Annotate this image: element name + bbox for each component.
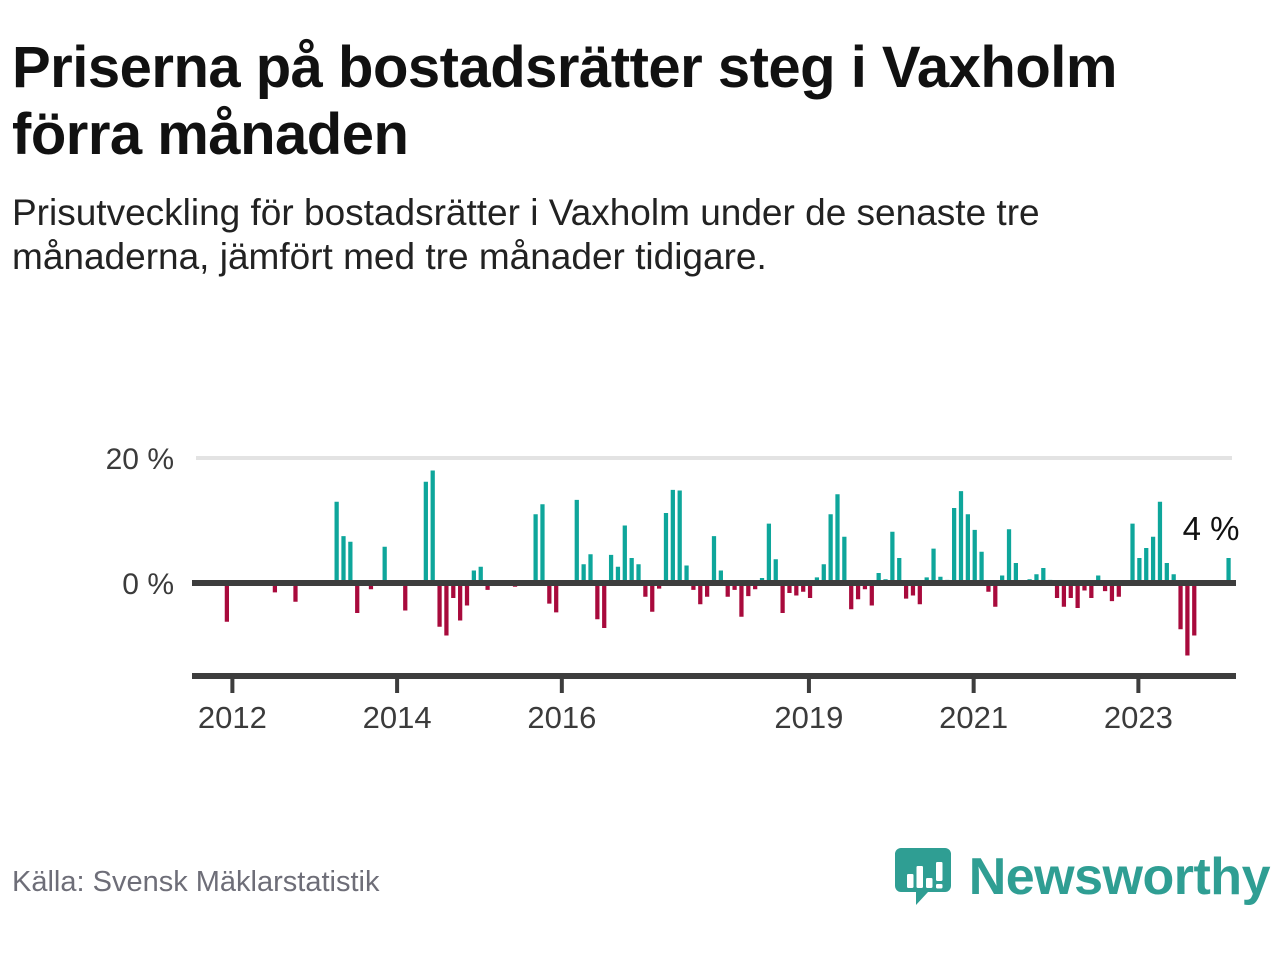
bar	[1226, 558, 1230, 583]
bar	[712, 536, 716, 583]
bar	[335, 502, 339, 583]
y-tick-label: 20 %	[106, 443, 174, 476]
page-subtitle: Prisutveckling för bostadsrätter i Vaxho…	[12, 191, 1152, 280]
x-tick-mark	[230, 676, 234, 693]
bar	[664, 513, 668, 583]
bar	[829, 514, 833, 583]
bar	[918, 583, 922, 604]
bar	[1178, 583, 1182, 629]
x-tick-mark	[395, 676, 399, 693]
bar	[465, 583, 469, 606]
x-tick-label: 2016	[527, 700, 596, 735]
bar	[431, 471, 435, 584]
gridline-20	[196, 456, 1232, 460]
bar	[849, 583, 853, 609]
x-tick-label: 2012	[198, 700, 267, 735]
bar	[678, 491, 682, 584]
bar	[993, 583, 997, 607]
bar	[966, 514, 970, 583]
bar	[959, 491, 963, 583]
bar	[1007, 529, 1011, 583]
bar	[403, 583, 407, 611]
bar	[602, 583, 606, 628]
bar	[383, 547, 387, 583]
x-tick-mark	[1136, 676, 1140, 693]
bar-series	[225, 471, 1231, 656]
y-axis-labels: 0 %20 %	[106, 443, 174, 601]
x-tick-mark	[560, 676, 564, 693]
bar	[424, 482, 428, 583]
zero-line	[192, 580, 1236, 586]
bar	[952, 508, 956, 583]
bar	[1192, 583, 1196, 636]
bar	[870, 583, 874, 606]
x-axis-line	[192, 673, 1236, 679]
bar	[897, 558, 901, 583]
bar	[225, 583, 229, 622]
bar	[1185, 583, 1189, 656]
x-tick-label: 2019	[774, 700, 843, 735]
bar	[630, 558, 634, 583]
x-tick-label: 2023	[1104, 700, 1173, 735]
bar	[437, 583, 441, 627]
brand-name: Newsworthy	[969, 851, 1270, 903]
bar	[890, 532, 894, 583]
chart-footer: Källa: Svensk Mäklarstatistik Newsworthy	[0, 830, 1280, 960]
bar	[554, 583, 558, 612]
bar	[767, 524, 771, 583]
bar-chart-speech-bubble-icon	[891, 842, 955, 911]
y-tick-label: 0 %	[122, 568, 174, 601]
bar	[1144, 548, 1148, 583]
infographic-page: Priserna på bostadsrätter steg i Vaxholm…	[0, 0, 1280, 960]
x-tick-mark	[807, 676, 811, 693]
bar	[842, 537, 846, 583]
bar	[623, 526, 627, 584]
bar	[1130, 524, 1134, 583]
x-tick-label: 2014	[363, 700, 432, 735]
bar	[979, 552, 983, 583]
bar	[973, 530, 977, 583]
bar	[540, 504, 544, 583]
source-label: Källa: Svensk Mäklarstatistik	[12, 866, 379, 899]
page-title: Priserna på bostadsrätter steg i Vaxholm…	[12, 0, 1132, 169]
bar	[780, 583, 784, 613]
bar	[588, 554, 592, 583]
bar	[348, 542, 352, 583]
chart-canvas: 0 %20 %2012201420162019202120234 %	[0, 430, 1280, 760]
bar	[1137, 558, 1141, 583]
bar	[444, 583, 448, 636]
bar	[355, 583, 359, 613]
bar-chart: 0 %20 %2012201420162019202120234 %	[0, 430, 1280, 760]
x-tick-mark	[972, 676, 976, 693]
bar	[595, 583, 599, 619]
bar	[931, 549, 935, 583]
bar	[835, 494, 839, 583]
bar	[575, 500, 579, 583]
bar	[1076, 583, 1080, 608]
bar	[739, 583, 743, 617]
bar	[1158, 502, 1162, 583]
x-axis-labels: 201220142016201920212023	[198, 676, 1173, 735]
brand-logo[interactable]: Newsworthy	[891, 842, 1270, 911]
bar	[698, 583, 702, 604]
bar	[1151, 537, 1155, 583]
x-tick-label: 2021	[939, 700, 1008, 735]
bar	[458, 583, 462, 621]
bar	[1062, 583, 1066, 607]
bar	[774, 559, 778, 583]
bar	[609, 555, 613, 583]
bar	[533, 514, 537, 583]
bar	[341, 536, 345, 583]
bar	[650, 583, 654, 612]
bar	[547, 583, 551, 604]
bar	[671, 490, 675, 583]
last-value-annotation: 4 %	[1183, 510, 1240, 547]
